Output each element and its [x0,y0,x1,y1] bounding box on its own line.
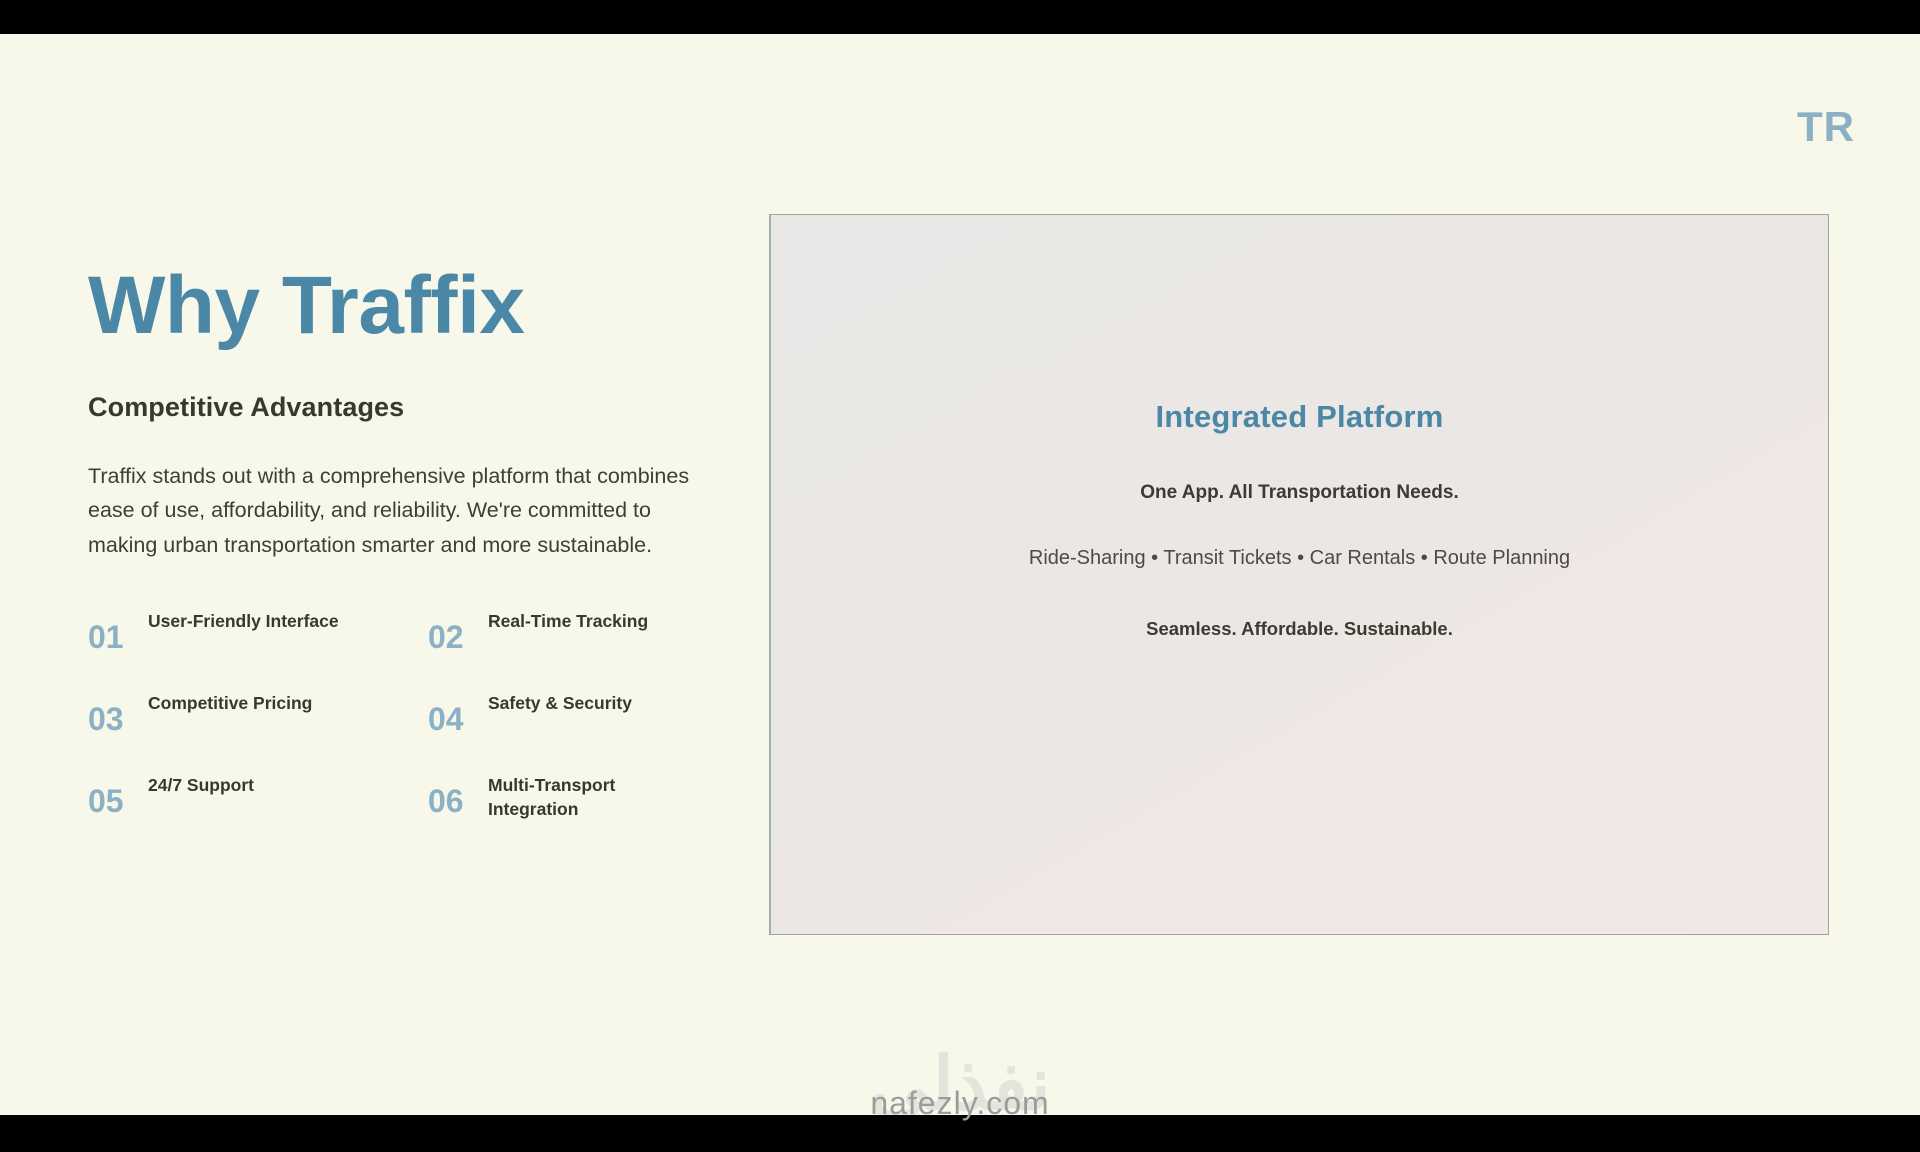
advantage-number: 05 [88,785,148,817]
brand-mark: TR [1797,106,1855,148]
visual-panel: Integrated Platform One App. All Transpo… [769,214,1829,935]
advantage-label: Real-Time Tracking [488,609,648,633]
advantage-number: 06 [428,785,488,817]
screen: TR Why Traffix Competitive Advantages Tr… [0,0,1920,1152]
presentation-slide: TR Why Traffix Competitive Advantages Tr… [0,34,1920,1115]
panel-closing-line: Seamless. Affordable. Sustainable. [811,618,1788,640]
advantage-label: Competitive Pricing [148,691,312,715]
advantage-item-03: 03 Competitive Pricing [88,691,428,735]
panel-feature-list: Ride-Sharing • Transit Tickets • Car Ren… [811,547,1788,570]
advantage-number: 04 [428,703,488,735]
advantage-number: 02 [428,621,488,653]
advantage-label: 24/7 Support [148,773,254,797]
lead-paragraph: Traffix stands out with a comprehensive … [88,459,720,563]
panel-title: Integrated Platform [811,399,1788,435]
letterbox-top [0,0,1920,34]
advantage-item-05: 05 24/7 Support [88,773,428,821]
advantage-item-04: 04 Safety & Security [428,691,728,735]
advantage-label: Safety & Security [488,691,632,715]
watermark-url: nafezly.com [0,1085,1920,1122]
left-content-column: Why Traffix Competitive Advantages Traff… [88,264,728,821]
section-subtitle: Competitive Advantages [88,392,728,423]
page-title: Why Traffix [88,264,728,348]
panel-tagline: One App. All Transportation Needs. [811,482,1788,504]
advantage-label: Multi-Transport Integration [488,773,708,821]
advantage-item-01: 01 User-Friendly Interface [88,609,428,653]
advantage-item-02: 02 Real-Time Tracking [428,609,728,653]
advantage-label: User-Friendly Interface [148,609,339,633]
advantage-item-06: 06 Multi-Transport Integration [428,773,728,821]
advantages-grid: 01 User-Friendly Interface 02 Real-Time … [88,609,728,821]
advantage-number: 03 [88,703,148,735]
advantage-number: 01 [88,621,148,653]
panel-content: Integrated Platform One App. All Transpo… [771,399,1828,640]
